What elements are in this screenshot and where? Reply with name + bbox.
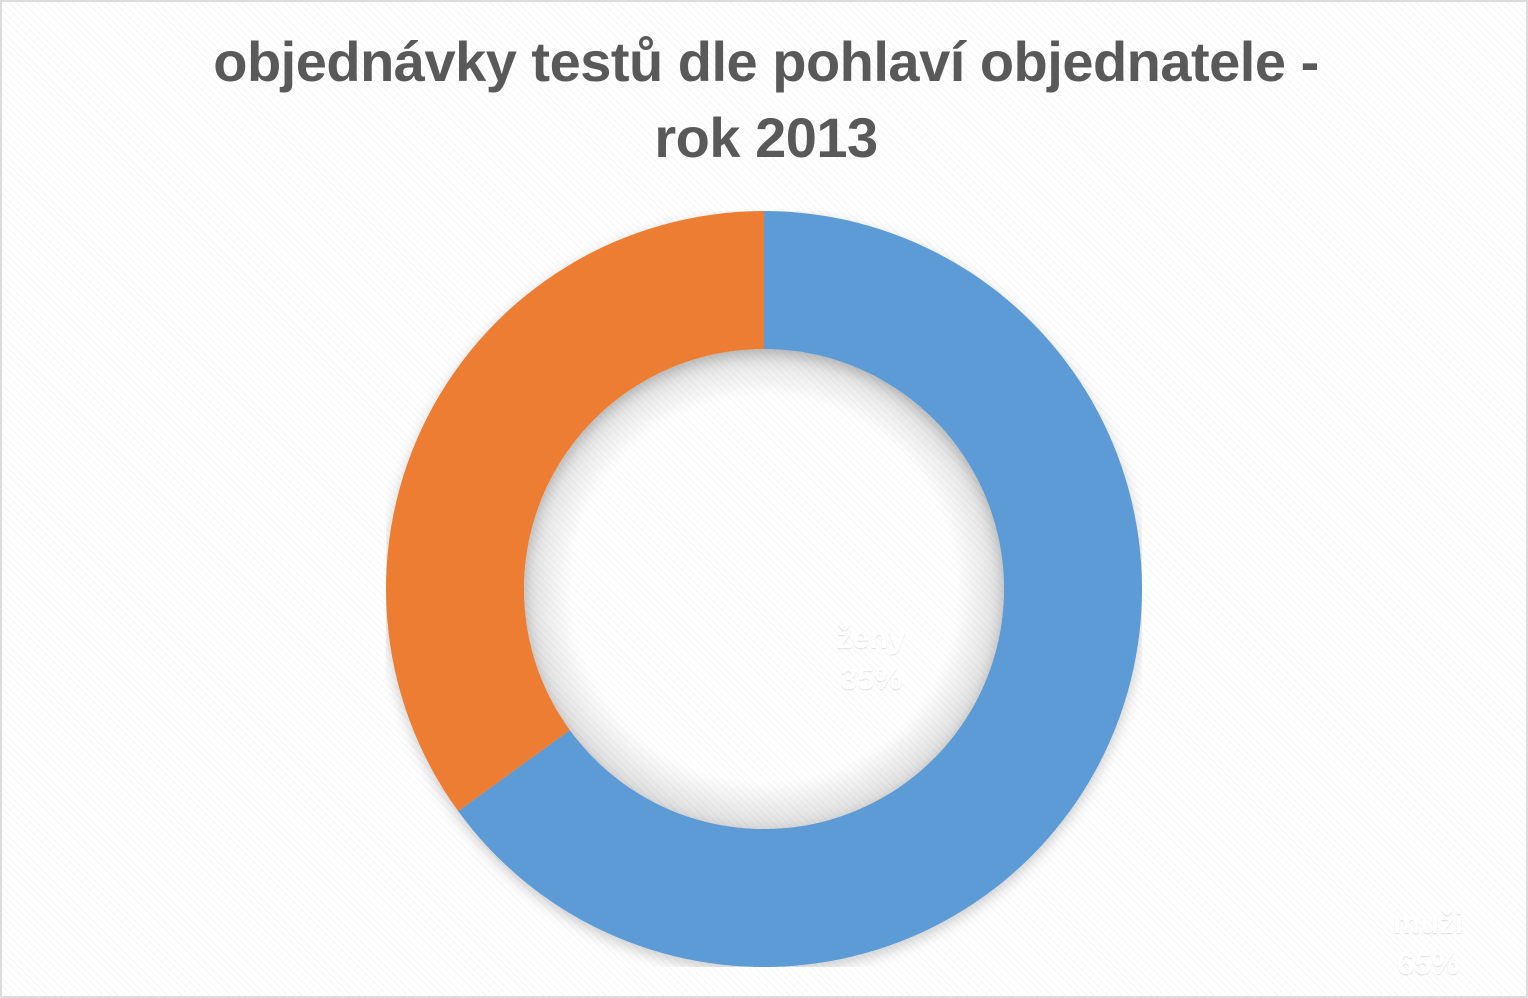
chart-container: objednávky testů dle pohlaví objednatele… xyxy=(0,0,1528,998)
doughnut-chart-plot: ženy 35% muži 65% xyxy=(386,211,1142,967)
doughnut-hole xyxy=(524,349,1004,829)
slice-label-muzi: muži 65% xyxy=(1343,902,1513,984)
doughnut-svg xyxy=(386,211,1142,967)
chart-title: objednávky testů dle pohlaví objednatele… xyxy=(2,24,1528,175)
